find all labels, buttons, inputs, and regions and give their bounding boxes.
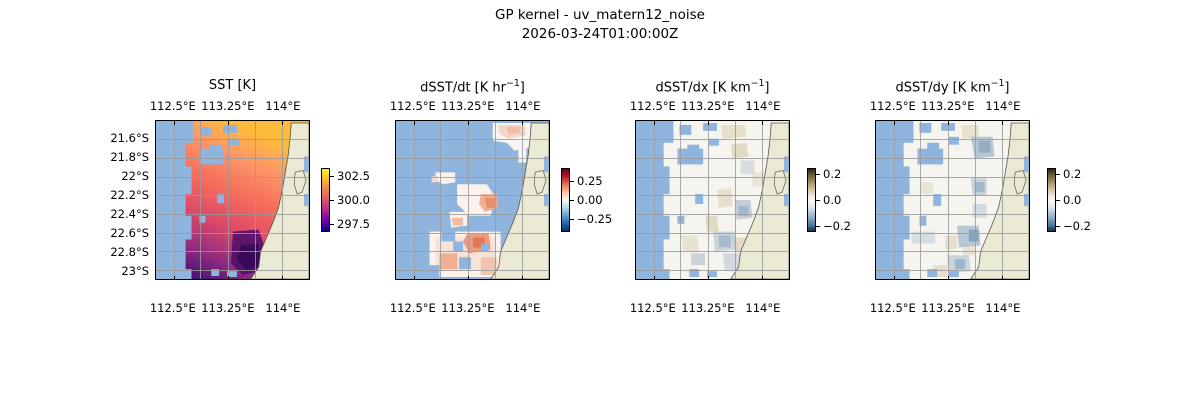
xtick-label: 112.5°E [390, 99, 436, 113]
xtick-label: 114°E [505, 99, 540, 113]
ytick-label: 21.6°S [110, 131, 149, 145]
xtick-label: 113.25°E [441, 99, 494, 113]
panel-dsst-dy: dSST/dy [K km−1] [875, 120, 1030, 280]
xtick-label: 113.25°E [201, 99, 254, 113]
xtick-label: 114°E [505, 301, 540, 315]
xtick-label: 112.5°E [630, 99, 676, 113]
ytick-label: 22.6°S [110, 226, 149, 240]
panel-dsst-dt-map [396, 121, 549, 279]
colorbar-dsst-dy-gradient [1047, 168, 1056, 232]
ytick-label: 22.2°S [110, 188, 149, 202]
xtick-label: 114°E [265, 99, 300, 113]
xtick-label: 113.25°E [201, 301, 254, 315]
ytick-label: 21.8°S [110, 150, 149, 164]
colorbar-tick-label: 0.0 [1063, 193, 1081, 207]
colorbar-dsst-dx-gradient [807, 168, 816, 232]
panel-dsst-dt-title: dSST/dt [K hr−1] [395, 78, 550, 95]
colorbar-tick-label: 0.2 [1063, 167, 1081, 181]
colorbar-dsst-dt-gradient [561, 168, 570, 232]
xtick-label: 113.25°E [441, 301, 494, 315]
panel-sst-map [156, 121, 309, 279]
panel-title-exponent: −1 [751, 78, 765, 89]
xtick-label: 112.5°E [150, 301, 196, 315]
colorbar-dsst-dx[interactable]: 0.2 0.0 −0.2 [807, 168, 816, 232]
panel-sst-axes[interactable] [155, 120, 310, 280]
colorbar-sst[interactable]: 302.5 300.0 297.5 [321, 168, 330, 232]
xtick-label: 112.5°E [870, 99, 916, 113]
colorbar-tick-label: 0.25 [577, 174, 603, 188]
ytick-label: 22.4°S [110, 207, 149, 221]
ytick-label: 23°S [121, 264, 149, 278]
suptitle-line-2: 2026-03-24T01:00:00Z [0, 25, 1200, 44]
ytick-label: 22°S [121, 169, 149, 183]
xtick-label: 113.25°E [921, 301, 974, 315]
colorbar-tick-label: 300.0 [337, 193, 370, 207]
colorbar-tick-label: 0.2 [823, 167, 841, 181]
xtick-label: 113.25°E [921, 99, 974, 113]
panel-dsst-dy-title: dSST/dy [K km−1] [875, 78, 1030, 95]
xtick-label: 114°E [985, 99, 1020, 113]
xtick-label: 112.5°E [870, 301, 916, 315]
panel-title-base: dSST/dt [K hr [420, 80, 506, 95]
panel-title-tail: ] [764, 80, 769, 95]
panel-dsst-dx-axes[interactable] [635, 120, 790, 280]
panel-dsst-dx-map [636, 121, 789, 279]
xtick-label: 112.5°E [630, 301, 676, 315]
xtick-label: 112.5°E [390, 301, 436, 315]
colorbar-sst-gradient [321, 168, 330, 232]
xtick-label: 113.25°E [681, 99, 734, 113]
panel-title-base: dSST/dx [K km [656, 80, 751, 95]
ytick-label: 22.8°S [110, 245, 149, 259]
figure-canvas: GP kernel - uv_matern12_noise 2026-03-24… [0, 0, 1200, 400]
panel-dsst-dt: dSST/dt [K hr−1] [395, 120, 550, 280]
colorbar-tick-label: −0.2 [823, 219, 851, 233]
colorbar-tick-label: 297.5 [337, 217, 370, 231]
panel-dsst-dt-axes[interactable] [395, 120, 550, 280]
xtick-label: 114°E [265, 301, 300, 315]
panel-sst-title: SST [K] [155, 78, 310, 93]
panel-dsst-dx-title: dSST/dx [K km−1] [635, 78, 790, 95]
panel-title-tail: ] [520, 80, 525, 95]
suptitle-line-1: GP kernel - uv_matern12_noise [0, 6, 1200, 25]
colorbar-tick-label: 0.0 [823, 193, 841, 207]
panel-title-tail: ] [1004, 80, 1009, 95]
colorbar-tick-label: −0.25 [577, 212, 612, 226]
panel-title-exponent: −1 [506, 78, 520, 89]
xtick-label: 114°E [745, 301, 780, 315]
xtick-label: 112.5°E [150, 99, 196, 113]
colorbar-tick-label: −0.2 [1063, 219, 1091, 233]
panel-sst: SST [K] [155, 120, 310, 280]
colorbar-dsst-dt[interactable]: 0.25 0.00 −0.25 [561, 168, 570, 232]
colorbar-dsst-dy[interactable]: 0.2 0.0 −0.2 [1047, 168, 1056, 232]
xtick-label: 113.25°E [681, 301, 734, 315]
xtick-label: 114°E [745, 99, 780, 113]
panel-dsst-dy-map [876, 121, 1029, 279]
panel-title-exponent: −1 [991, 78, 1005, 89]
xtick-label: 114°E [985, 301, 1020, 315]
panel-title-base: dSST/dy [K km [896, 80, 991, 95]
figure-suptitle: GP kernel - uv_matern12_noise 2026-03-24… [0, 6, 1200, 44]
panel-dsst-dx: dSST/dx [K km−1] [635, 120, 790, 280]
panel-dsst-dy-axes[interactable] [875, 120, 1030, 280]
colorbar-tick-label: 302.5 [337, 169, 370, 183]
colorbar-tick-label: 0.00 [577, 193, 603, 207]
